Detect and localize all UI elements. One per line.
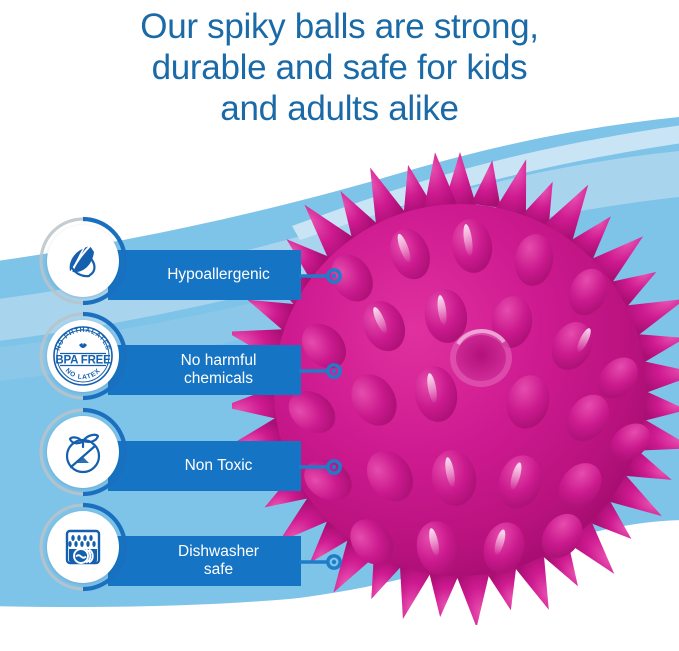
ball-center-hole [450, 329, 512, 387]
feature-label-bar[interactable]: No harmful chemicals [108, 345, 301, 395]
seal-center-text: BPA FREE [55, 354, 111, 366]
feature-label-bar[interactable]: Hypoallergenic [108, 250, 301, 300]
feature-badge-non-toxic[interactable] [36, 405, 130, 499]
connector-line-no-harmful-chemicals [299, 363, 343, 379]
feature-badge-hypoallergenic[interactable] [36, 214, 130, 308]
connector-line-non-toxic [299, 459, 343, 475]
feature-label-text: No harmful chemicals [181, 352, 257, 388]
feature-label-text: Hypoallergenic [167, 266, 270, 284]
badge-face [47, 225, 119, 297]
dishwasher-safe-icon [59, 523, 107, 571]
product-infographic: Our spiky balls are strong, durable and … [0, 0, 679, 651]
seal-bottom-arc-text: NO LATEX [64, 367, 102, 381]
feature-badge-bpa-free[interactable]: NO PHTHALATES NO LATEX BPA FREE [36, 309, 130, 403]
bpa-free-seal-icon: NO PHTHALATES NO LATEX BPA FREE [49, 322, 117, 390]
feature-label-bar[interactable]: Dishwasher safe [108, 536, 301, 586]
feature-label-text: Dishwasher safe [178, 543, 259, 579]
feature-badge-dishwasher-safe[interactable] [36, 500, 130, 594]
page-headline: Our spiky balls are strong, durable and … [0, 6, 679, 129]
non-toxic-icon [58, 427, 108, 477]
hypoallergenic-feather-icon [60, 238, 106, 284]
feature-label-bar[interactable]: Non Toxic [108, 441, 301, 491]
svg-text:NO LATEX: NO LATEX [64, 367, 102, 381]
badge-face [47, 416, 119, 488]
feature-label-text: Non Toxic [185, 457, 253, 475]
connector-line-hypoallergenic [299, 268, 343, 284]
badge-face: NO PHTHALATES NO LATEX BPA FREE [47, 320, 119, 392]
badge-face [47, 511, 119, 583]
connector-line-dishwasher-safe [299, 554, 343, 570]
